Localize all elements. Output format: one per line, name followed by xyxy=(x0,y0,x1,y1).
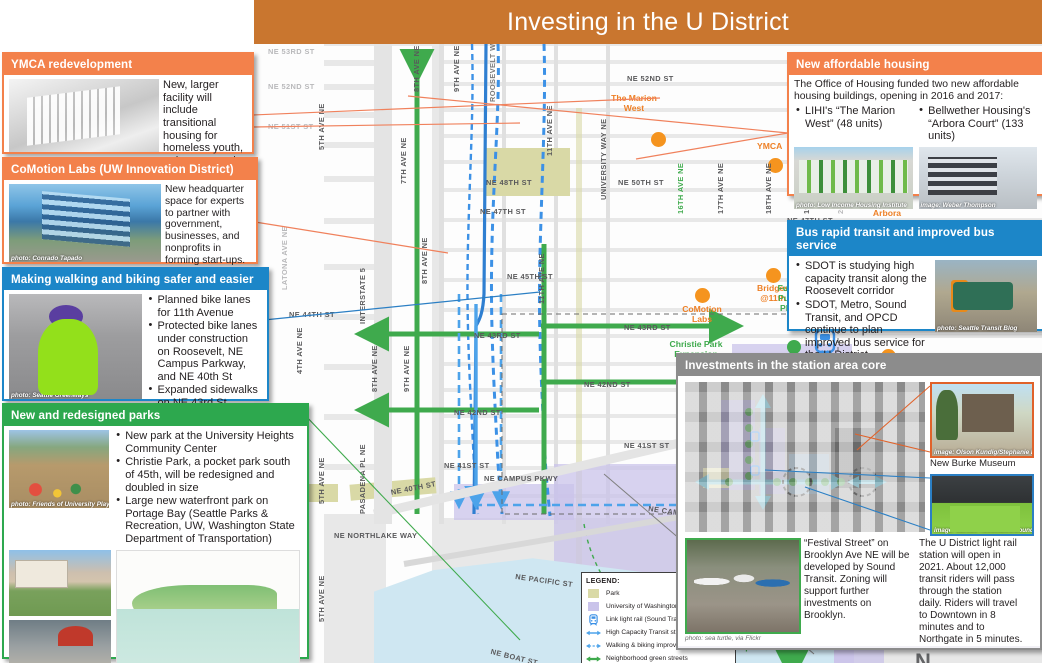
avenue-label: 9TH AVE NE xyxy=(452,45,461,92)
street-label: NE 52ND ST xyxy=(627,74,674,83)
card-bullet-list: New park at the University Heights Commu… xyxy=(114,430,302,547)
new-burke-museum-rendering: image: Olson Kundig/Stephanie Bower xyxy=(930,382,1034,458)
park-polygon xyxy=(484,148,570,196)
map-label-marion-west: The MarionWest xyxy=(602,94,666,114)
photo-credit: photo: Seattle Transit Blog xyxy=(937,325,1017,332)
park-swatch xyxy=(586,589,601,598)
light-rail-station-rendering: image: Jacobs Associates/Sound Transit xyxy=(930,474,1034,536)
bullet-item: SDOT is studying high capacity transit a… xyxy=(805,260,930,298)
housing-bullet-left: LIHI's “The Marion West” (48 units) xyxy=(794,105,911,144)
bullet-item: Protected bike lanes under construction … xyxy=(158,320,262,383)
photo-credit: image: Olson Kundig/Stephanie Bower xyxy=(934,449,1034,456)
avenue-label: 17TH AVE NE xyxy=(716,163,725,214)
street-label: NE 53RD ST xyxy=(268,47,315,56)
street-label: NE 42ND ST xyxy=(584,380,631,389)
map-label-comotion-labs: CoMotionLabs xyxy=(670,305,734,325)
page-title: Investing in the U District xyxy=(254,8,1042,37)
street-label: NE 41ST ST xyxy=(624,441,669,450)
festival-street-photo xyxy=(685,538,801,634)
avenue-label: 5TH AVE NE xyxy=(317,457,326,504)
street-label: NE CAMPUS PKWY xyxy=(484,474,558,483)
avenue-label: 5TH AVE NE xyxy=(317,575,326,622)
street-label: NE 51ST ST xyxy=(268,122,313,131)
avenue-label: 4TH AVE NE xyxy=(295,327,304,374)
street-seating-photo xyxy=(9,620,111,663)
legend-label: Neighborhood green streets xyxy=(606,655,688,662)
housing-bullet-right: Bellwether Housing's “Arbora Court” (133… xyxy=(917,105,1037,144)
photo-credit: photo: Low Income Housing Institute xyxy=(796,202,907,209)
campus-swatch xyxy=(586,602,601,611)
light-rail-icon xyxy=(586,615,601,624)
festival-street-text: “Festival Street” on Brooklyn Ave NE wil… xyxy=(804,538,912,646)
avenue-label: 7TH AVE NE xyxy=(399,137,408,184)
bullet-item: Planned bike lanes for 11th Avenue xyxy=(158,294,262,319)
card-new-redesigned-parks[interactable]: New and redesigned parks photo: Friends … xyxy=(2,403,309,659)
north-label: N xyxy=(910,655,936,663)
avenue-label: 8TH AVE NE xyxy=(370,345,379,392)
street-label: NE 43RD ST xyxy=(624,323,671,332)
aerial-overlay xyxy=(685,382,925,532)
marion-west-photo: photo: Low Income Housing Institute xyxy=(794,147,913,209)
street-label: NE 48TH ST xyxy=(486,178,532,187)
card-bus-rapid-transit[interactable]: Bus rapid transit and improved bus servi… xyxy=(787,220,1042,331)
card-affordable-housing[interactable]: New affordable housing The Office of Hou… xyxy=(787,52,1042,196)
card-station-area-core[interactable]: Investments in the station area core xyxy=(676,353,1042,650)
photo-credit: photo: Seattle Greenways xyxy=(11,392,88,399)
photo-credit: photo: sea turtle, via Flickr xyxy=(685,635,797,642)
photo-credit: photo: Friends of University Playground xyxy=(11,501,109,508)
scale-bar-icon xyxy=(123,649,159,659)
legend-label: Park xyxy=(606,590,620,597)
portage-bay-plan-image: image: Walker Mercy xyxy=(116,550,300,663)
bus-photo: photo: Seattle Transit Blog xyxy=(935,260,1037,332)
street-label: NE 44TH ST xyxy=(289,310,335,319)
avenue-label: 5TH AVE NE xyxy=(317,103,326,150)
key-project-dot xyxy=(766,268,781,283)
street-label: NE NORTHLAKE WAY xyxy=(334,531,417,540)
station-text: The U District light rail station will o… xyxy=(919,538,1027,646)
avenue-label: UNIVERSITY WAY NE xyxy=(599,119,608,200)
bullet-item: Large new waterfront park on Portage Bay… xyxy=(125,495,302,546)
map-label-ymca: YMCA xyxy=(757,142,782,152)
photo-credit: photo: Conrado Tapado xyxy=(11,255,82,262)
bullet-item: Christie Park, a pocket park south of 45… xyxy=(125,456,302,494)
bike-helmet-photo: photo: Seattle Greenways xyxy=(9,294,142,399)
card-ymca-redevelopment[interactable]: YMCA redevelopment New, larger facility … xyxy=(2,52,254,154)
card-comotion-labs[interactable]: CoMotion Labs (UW Innovation District) p… xyxy=(2,157,258,264)
playground-photo: photo: Friends of University Playground xyxy=(9,430,109,508)
arbora-court-rendering: image: Weber Thompson xyxy=(919,147,1038,209)
avenue-label: INTERSTATE 5 xyxy=(358,268,367,324)
card-title: Making walking and biking safer and easi… xyxy=(4,269,267,290)
avenue-label: ROOSEVELT WAY NE xyxy=(488,44,497,102)
avenue-label: LATONA AVE NE xyxy=(280,226,289,290)
comotion-building-photo: photo: Conrado Tapado xyxy=(9,184,161,262)
card-title: New affordable housing xyxy=(789,54,1042,75)
avenue-label: 18TH AVE NE xyxy=(764,163,773,214)
card-title: YMCA redevelopment xyxy=(4,54,252,75)
card-title: New and redesigned parks xyxy=(4,405,307,426)
legend-item-green-streets: Neighborhood green streets xyxy=(586,652,731,663)
avenue-label: 8TH AVE NE xyxy=(420,237,429,284)
avenue-label: 11TH AVE NE xyxy=(537,253,546,304)
card-bullet-list: Planned bike lanes for 11th Avenue Prote… xyxy=(147,294,262,411)
u-heights-building-photo xyxy=(9,550,111,616)
double-arrow-green-icon xyxy=(586,654,601,663)
double-arrow-dashed-icon xyxy=(586,641,601,650)
bullet-item: New park at the University Heights Commu… xyxy=(125,430,302,455)
photo-credit: image: Weber Thompson xyxy=(921,202,996,209)
card-bullet-list: SDOT is studying high capacity transit a… xyxy=(794,260,930,363)
key-project-dot xyxy=(651,132,666,147)
uw-campus-area xyxy=(454,484,574,520)
card-text: New headquarter space for experts to par… xyxy=(165,184,249,267)
street-label: NE 43RD ST xyxy=(474,331,521,340)
street-label: NE 42ND ST xyxy=(454,408,501,417)
avenue-label: PASADENA PL NE xyxy=(358,444,367,514)
bullet-item: LIHI's “The Marion West” (48 units) xyxy=(805,105,911,130)
card-walking-biking[interactable]: Making walking and biking safer and easi… xyxy=(2,267,269,401)
street-label: NE 41ST ST xyxy=(444,461,489,470)
page-title-bar: Investing in the U District xyxy=(254,0,1042,44)
street-label: NE 52ND ST xyxy=(268,82,315,91)
card-title: Investments in the station area core xyxy=(678,355,1040,376)
burke-museum-caption: New Burke Museum xyxy=(930,458,1016,469)
avenue-label: 11TH AVE NE xyxy=(545,105,554,156)
avenue-label: 16TH AVE NE xyxy=(676,163,685,214)
street-label: NE 45TH ST xyxy=(507,272,553,281)
card-title: Bus rapid transit and improved bus servi… xyxy=(789,222,1042,256)
interstate-5 xyxy=(374,44,392,524)
avenue-label: 9TH AVE NE xyxy=(402,345,411,392)
bullet-item: Bellwether Housing's “Arbora Court” (133… xyxy=(928,105,1037,143)
card-intro-text: The Office of Housing funded two new aff… xyxy=(794,79,1037,103)
infographic-page: Investing in the U District xyxy=(0,0,1042,663)
card-title: CoMotion Labs (UW Innovation District) xyxy=(4,159,256,180)
key-project-dot xyxy=(695,288,710,303)
street-label: NE 47TH ST xyxy=(480,207,526,216)
street-label: NE 50TH ST xyxy=(618,178,664,187)
ymca-rendering-photo xyxy=(9,79,159,152)
double-arrow-solid-icon xyxy=(586,628,601,637)
photo-credit: image: Jacobs Associates/Sound Transit xyxy=(934,527,1034,534)
station-area-aerial-map xyxy=(685,382,925,532)
avenue-label: 8TH AVE NE xyxy=(412,45,421,92)
